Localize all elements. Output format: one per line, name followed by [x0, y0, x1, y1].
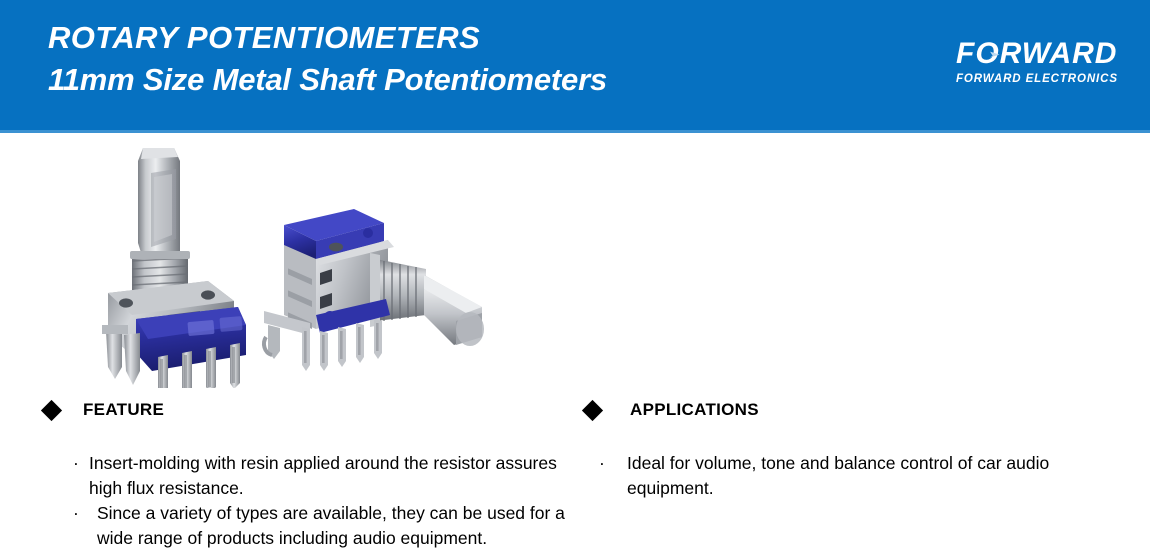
logo-wordmark: FORWARD [956, 38, 1108, 70]
feature-heading-row: FEATURE [44, 395, 584, 425]
applications-heading: APPLICATIONS [630, 400, 759, 420]
applications-column: APPLICATIONS · Ideal for volume, tone an… [585, 395, 1125, 501]
content-area: FEATURE · Insert-molding with resin appl… [0, 395, 1150, 542]
logo-wordmark-text: FORWARD [956, 37, 1117, 70]
product-image-side-mount-potentiometer [258, 203, 498, 378]
feature-column: FEATURE · Insert-molding with resin appl… [44, 395, 584, 551]
bullet-dot-icon: · [73, 451, 89, 501]
product-image-area [0, 133, 1150, 395]
bullet-dot-icon: · [73, 501, 97, 551]
logo-tagline: FORWARD ELECTRONICS [956, 71, 1108, 87]
list-item: · Since a variety of types are available… [73, 501, 584, 551]
page-header: ROTARY POTENTIOMETERS 11mm Size Metal Sh… [0, 0, 1150, 133]
page-title: ROTARY POTENTIOMETERS [48, 18, 607, 58]
feature-heading: FEATURE [83, 400, 164, 420]
feature-bullet-list: · Insert-molding with resin applied arou… [73, 451, 584, 551]
feature-bullet-text-2: Since a variety of types are available, … [97, 501, 584, 551]
diamond-bullet-icon [582, 399, 603, 420]
page-subtitle: 11mm Size Metal Shaft Potentiometers [48, 58, 607, 102]
feature-bullet-text-1: Insert-molding with resin applied around… [89, 451, 584, 501]
list-item: · Ideal for volume, tone and balance con… [599, 451, 1125, 501]
header-title-group: ROTARY POTENTIOMETERS 11mm Size Metal Sh… [48, 18, 607, 102]
list-item: · Insert-molding with resin applied arou… [73, 451, 584, 501]
applications-heading-row: APPLICATIONS [585, 395, 1125, 425]
applications-bullet-list: · Ideal for volume, tone and balance con… [599, 451, 1125, 501]
bullet-dot-icon: · [599, 451, 627, 501]
diamond-bullet-icon [41, 399, 62, 420]
applications-bullet-text-1: Ideal for volume, tone and balance contr… [627, 451, 1125, 501]
company-logo: FORWARD FORWARD ELECTRONICS [956, 38, 1108, 87]
